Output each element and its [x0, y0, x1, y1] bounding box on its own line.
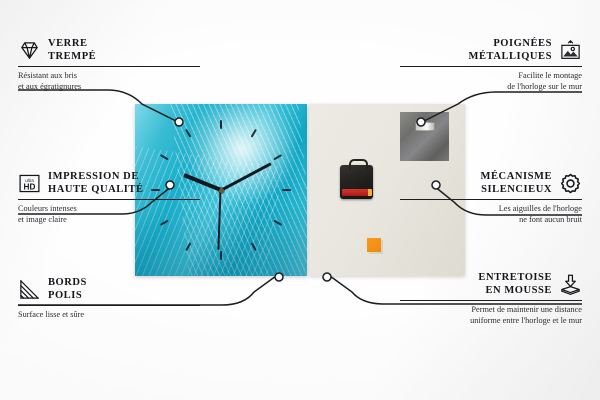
callout-rule	[400, 66, 582, 67]
foam-spacer	[367, 238, 381, 252]
polished-edges-icon	[18, 278, 41, 301]
callout-title: BORDS POLIS	[48, 277, 87, 302]
hand-pin	[219, 188, 224, 193]
callout-description: Surface lisse et sûre	[18, 310, 200, 321]
diamond-icon	[18, 39, 41, 62]
callout-rule	[18, 66, 200, 67]
callout-title: VERRE TREMPÉ	[48, 38, 96, 63]
clock-mechanism-box	[340, 165, 373, 199]
callout-bords-polis: BORDS POLIS Surface lisse et sûre	[18, 277, 200, 321]
foam-spacer-arrow-icon	[559, 273, 582, 296]
callout-rule	[400, 199, 582, 200]
callout-header: MÉCANISME SILENCIEUX	[400, 171, 582, 196]
callout-header: BORDS POLIS	[18, 277, 200, 302]
callout-header: ENTRETOISE EN MOUSSE	[400, 272, 582, 297]
callout-title: ENTRETOISE EN MOUSSE	[478, 272, 552, 297]
callout-header: ultra HD IMPRESSION DE HAUTE QUALITÉ	[18, 171, 200, 196]
callout-verre-trempe: VERRE TREMPÉ Résistant aux bris et aux é…	[18, 38, 200, 92]
hanging-loop	[349, 159, 368, 170]
gear-icon	[559, 172, 582, 195]
callout-mecanisme-silencieux: MÉCANISME SILENCIEUX Les aiguilles de l'…	[400, 171, 582, 225]
callout-title: MÉCANISME SILENCIEUX	[481, 171, 552, 196]
callout-rule	[18, 199, 200, 200]
callout-title: IMPRESSION DE HAUTE QUALITÉ	[48, 171, 144, 196]
infographic-canvas: VERRE TREMPÉ Résistant aux bris et aux é…	[0, 0, 600, 400]
callout-description: Facilite le montage de l'horloge sur le …	[400, 71, 582, 92]
callout-description: Résistant aux bris et aux égratignures	[18, 71, 200, 92]
battery	[342, 189, 369, 196]
callout-rule	[18, 305, 200, 306]
callout-header: VERRE TREMPÉ	[18, 38, 200, 63]
metal-hanger-plate	[400, 112, 449, 161]
picture-frame-hanging-icon	[559, 39, 582, 62]
callout-impression-hd: ultra HD IMPRESSION DE HAUTE QUALITÉ Cou…	[18, 171, 200, 225]
callout-header: POIGNÉES MÉTALLIQUES	[400, 38, 582, 63]
callout-description: Couleurs intenses et image claire	[18, 204, 200, 225]
callout-entretoise-en-mousse: ENTRETOISE EN MOUSSE Permet de maintenir…	[400, 272, 582, 326]
callout-poignees-metalliques: POIGNÉES MÉTALLIQUES Facilite le montage…	[400, 38, 582, 92]
callout-description: Permet de maintenir une distance uniform…	[400, 305, 582, 326]
svg-text:HD: HD	[24, 182, 36, 191]
ultra-hd-icon: ultra HD	[18, 172, 41, 195]
callout-title: POIGNÉES MÉTALLIQUES	[469, 38, 552, 63]
callout-description: Les aiguilles de l'horloge ne font aucun…	[400, 204, 582, 225]
callout-rule	[400, 300, 582, 301]
